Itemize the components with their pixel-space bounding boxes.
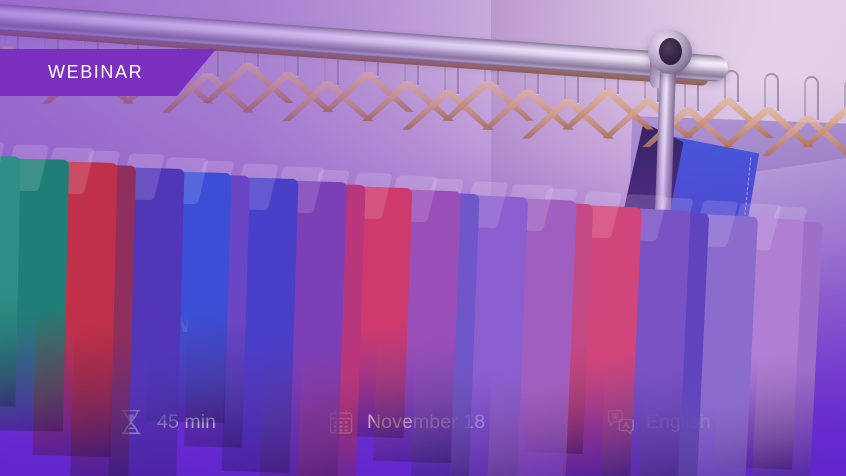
webinar-banner: WEBINAR FASHION Boost efficiency, agilit… (0, 0, 846, 476)
webinar-badge-label: WEBINAR (0, 62, 143, 83)
